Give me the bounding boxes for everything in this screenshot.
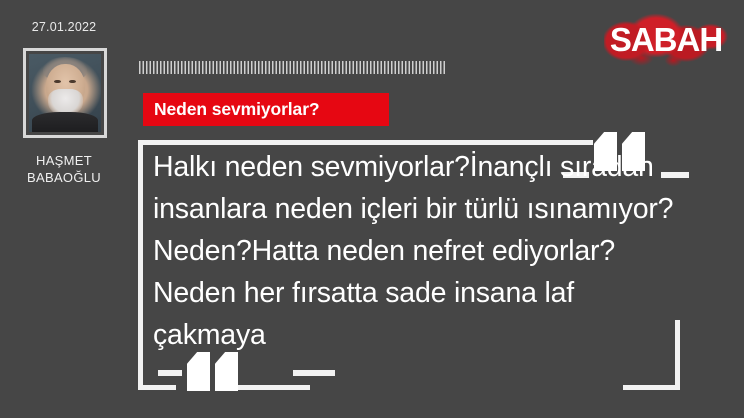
news-quote-card: 27.01.2022 HAŞMET BABAOĞLU SABAH Neden s…	[0, 0, 744, 418]
quote-frame: Halkı neden sevmiyorlar?İnançlı sıradan …	[130, 132, 730, 410]
sabah-logo: SABAH	[604, 12, 728, 68]
portrait-eye-left	[54, 80, 60, 84]
tick-rule-decoration	[139, 61, 447, 74]
headline-banner: Neden sevmiyorlar?	[143, 93, 389, 126]
quote-mark-bottom-icon	[187, 352, 238, 391]
frame-line-top	[138, 140, 593, 145]
frame-corner-bottom-right-horizontal	[623, 385, 680, 390]
headline-text: Neden sevmiyorlar?	[154, 99, 320, 120]
author-name: HAŞMET BABAOĞLU	[0, 152, 128, 186]
frame-dash-bottom-quote-left	[158, 370, 182, 376]
frame-line-left	[138, 140, 143, 390]
portrait-eye-right	[69, 80, 75, 84]
publication-date: 27.01.2022	[0, 20, 128, 34]
quote-mark-stroke	[187, 352, 210, 391]
author-photo-frame	[23, 48, 107, 138]
author-column: 27.01.2022 HAŞMET BABAOĞLU	[0, 0, 128, 418]
author-photo	[29, 54, 101, 132]
frame-dash-bottom-middle	[230, 385, 310, 390]
frame-dash-bottom-quote-right	[293, 370, 335, 376]
frame-corner-bottom-left	[138, 385, 176, 390]
quote-body-text: Halkı neden sevmiyorlar?İnançlı sıradan …	[153, 146, 693, 356]
quote-mark-stroke	[215, 352, 238, 391]
portrait-torso	[32, 112, 98, 132]
logo-wordmark: SABAH	[604, 12, 728, 68]
